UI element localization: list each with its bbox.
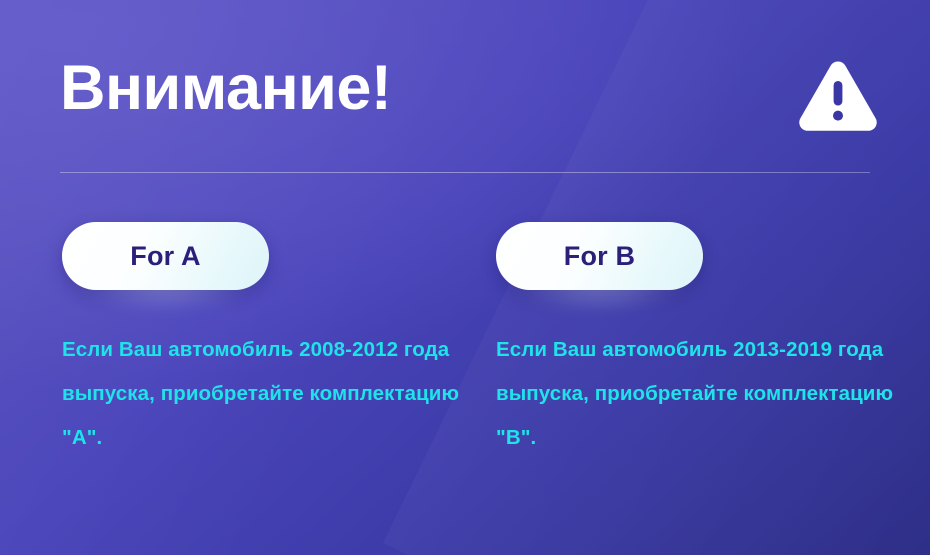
attention-banner: Внимание! For A Если Ваш автомобиль 2008… xyxy=(0,0,930,555)
option-b-description: Если Ваш автомобиль 2013-2019 года выпус… xyxy=(496,328,896,460)
warning-triangle-icon xyxy=(798,58,878,132)
pill-wrapper-b: For B xyxy=(496,222,703,290)
for-a-button[interactable]: For A xyxy=(62,222,269,290)
page-title: Внимание! xyxy=(60,57,391,120)
for-b-button[interactable]: For B xyxy=(496,222,703,290)
header-divider xyxy=(60,172,870,173)
option-a-description: Если Ваш автомобиль 2008-2012 года выпус… xyxy=(62,328,462,460)
pill-wrapper-a: For A xyxy=(62,222,269,290)
for-b-button-label: For B xyxy=(564,243,636,270)
for-a-button-label: For A xyxy=(130,243,201,270)
option-column-a: For A Если Ваш автомобиль 2008-2012 года… xyxy=(62,222,462,460)
option-column-b: For B Если Ваш автомобиль 2013-2019 года… xyxy=(496,222,896,460)
